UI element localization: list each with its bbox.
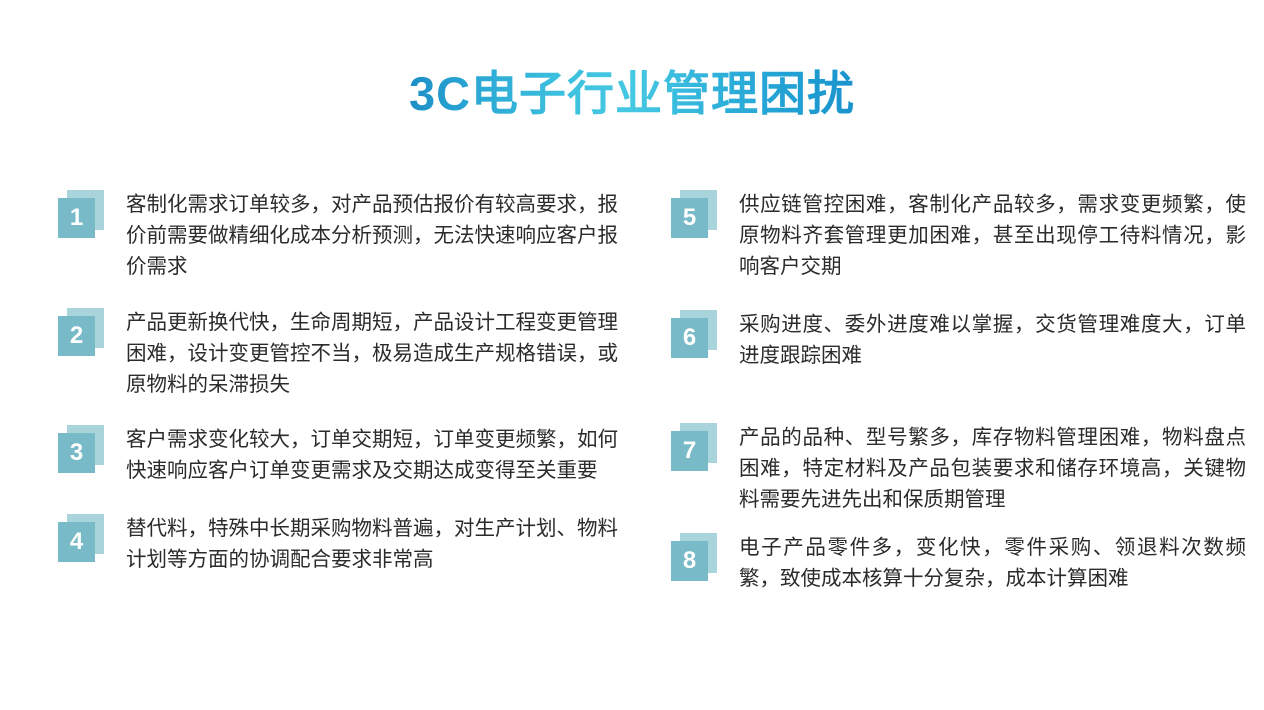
list-item: 7 产品的品种、型号繁多，库存物料管理困难，物料盘点困难，特定材料及产品包装要求… [671,421,1246,515]
list-item: 4 替代料，特殊中长期采购物料普遍，对生产计划、物料计划等方面的协调配合要求非常… [58,512,618,575]
badge-front-square: 7 [671,431,708,471]
list-item: 8 电子产品零件多，变化快，零件采购、领退料次数频繁，致使成本核算十分复杂，成本… [671,531,1246,594]
list-item: 1 客制化需求订单较多，对产品预估报价有较高要求，报价前需要做精细化成本分析预测… [58,188,618,282]
number-badge: 8 [671,533,717,581]
number-badge: 2 [58,308,104,356]
badge-number: 4 [70,530,83,554]
list-item-text: 替代料，特殊中长期采购物料普遍，对生产计划、物料计划等方面的协调配合要求非常高 [126,512,618,575]
badge-front-square: 3 [58,433,95,473]
number-badge: 3 [58,425,104,473]
list-item: 2 产品更新换代快，生命周期短，产品设计工程变更管理困难，设计变更管控不当，极易… [58,306,618,400]
badge-number: 8 [683,549,696,573]
badge-front-square: 6 [671,318,708,358]
left-column: 1 客制化需求订单较多，对产品预估报价有较高要求，报价前需要做精细化成本分析预测… [58,188,618,599]
badge-front-square: 1 [58,198,95,238]
list-item-text: 采购进度、委外进度难以掌握，交货管理难度大，订单进度跟踪困难 [739,308,1246,371]
list-item-text: 客制化需求订单较多，对产品预估报价有较高要求，报价前需要做精细化成本分析预测，无… [126,188,618,282]
badge-number: 2 [70,324,83,348]
title-container: 3C电子行业管理困扰 [0,34,1264,156]
number-badge: 5 [671,190,717,238]
list-item: 5 供应链管控困难，客制化产品较多，需求变更频繁，使原物料齐套管理更加困难，甚至… [671,188,1246,282]
badge-front-square: 4 [58,522,95,562]
content-columns: 1 客制化需求订单较多，对产品预估报价有较高要求，报价前需要做精细化成本分析预测… [0,188,1264,688]
list-item-text: 产品的品种、型号繁多，库存物料管理困难，物料盘点困难，特定材料及产品包装要求和储… [739,421,1246,515]
badge-number: 6 [683,326,696,350]
badge-front-square: 2 [58,316,95,356]
list-item-text: 客户需求变化较大，订单交期短，订单变更频繁，如何快速响应客户订单变更需求及交期达… [126,423,618,486]
badge-number: 7 [683,439,696,463]
list-item-text: 产品更新换代快，生命周期短，产品设计工程变更管理困难，设计变更管控不当，极易造成… [126,306,618,400]
list-item: 6 采购进度、委外进度难以掌握，交货管理难度大，订单进度跟踪困难 [671,308,1246,371]
list-item-text: 电子产品零件多，变化快，零件采购、领退料次数频繁，致使成本核算十分复杂，成本计算… [739,531,1246,594]
number-badge: 4 [58,514,104,562]
slide-root: 3C电子行业管理困扰 1 客制化需求订单较多，对产品预估报价有较高要求，报价前需… [0,0,1264,710]
list-item-text: 供应链管控困难，客制化产品较多，需求变更频繁，使原物料齐套管理更加困难，甚至出现… [739,188,1246,282]
number-badge: 7 [671,423,717,471]
badge-front-square: 5 [671,198,708,238]
page-title: 3C电子行业管理困扰 [409,65,855,124]
right-column: 5 供应链管控困难，客制化产品较多，需求变更频繁，使原物料齐套管理更加困难，甚至… [671,188,1246,618]
number-badge: 6 [671,310,717,358]
list-item: 3 客户需求变化较大，订单交期短，订单变更频繁，如何快速响应客户订单变更需求及交… [58,423,618,486]
badge-number: 1 [70,206,83,230]
badge-number: 5 [683,206,696,230]
badge-front-square: 8 [671,541,708,581]
number-badge: 1 [58,190,104,238]
badge-number: 3 [70,441,83,465]
